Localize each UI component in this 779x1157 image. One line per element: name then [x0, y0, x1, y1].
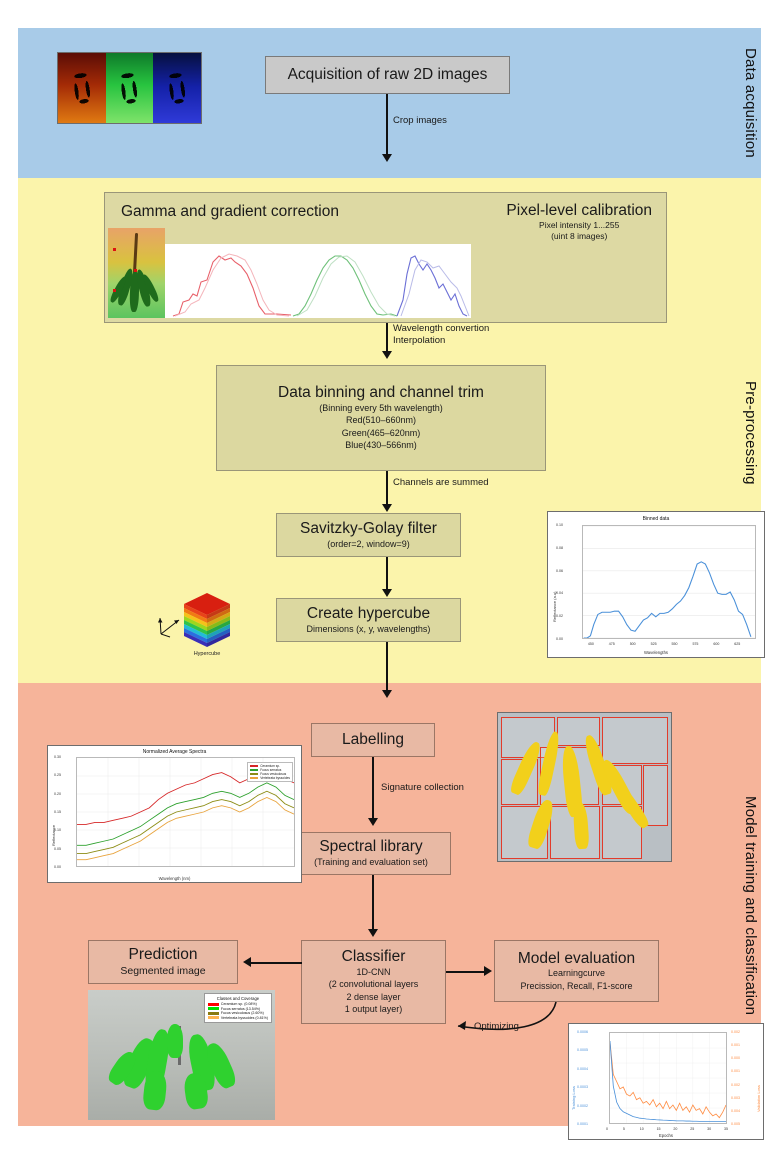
gamma-corrected-specimen-image [108, 228, 165, 318]
x-tick: 0 [606, 1127, 608, 1131]
y-tick-right: 0.005 [731, 1122, 740, 1126]
y-tick-left: 0.0005 [577, 1048, 588, 1052]
acquisition-box[interactable]: Acquisition of raw 2D images [265, 56, 510, 94]
learning-curve-lines [610, 1033, 726, 1123]
legend-swatch [250, 769, 258, 770]
spectral-library-sub: (Training and evaluation set) [314, 857, 428, 869]
band-label-pre-processing: Pre-processing [733, 328, 759, 538]
legend-label: Fucus serratus (13.54%) [221, 1007, 260, 1011]
prediction-legend-item: Fucus vesiculosus (2.60%) [208, 1011, 268, 1015]
x-tick: 500 [630, 642, 636, 646]
learning-curve-ylabel-right: Validation Loss [756, 1060, 761, 1112]
y-tick: 0.04 [556, 591, 563, 595]
savitzky-golay-params: (order=2, window=9) [327, 539, 410, 551]
band-label-data-acquisition: Data acquisition [733, 34, 759, 172]
classifier-title: Classifier [342, 948, 406, 966]
spectral-library-title: Spectral library [319, 838, 422, 856]
edge-label-channels-summed: Channels are summed [393, 477, 489, 489]
arrow-acq-to-gamma-line [386, 94, 388, 156]
y-tick-left: 0.0006 [577, 1030, 588, 1034]
legend-label: Fucus vesiculosus (2.60%) [221, 1011, 264, 1015]
workflow-diagram: Data acquisition Pre-processing Model tr… [0, 0, 779, 1157]
y-tick-right: 0.001 [731, 1069, 740, 1073]
savitzky-golay-box[interactable]: Savitzky-Golay filter (order=2, window=9… [276, 513, 461, 557]
edge-label-wavelength-convertion: Wavelength convertion [393, 323, 489, 335]
data-binning-green-range: Green(465–620nm) [342, 428, 421, 440]
classifier-sub4: 1 output layer) [345, 1004, 403, 1016]
y-tick-left: 0.0001 [577, 1122, 588, 1126]
arrow-hypercube-to-labelling-line [386, 642, 388, 692]
y-tick-right: 0.002 [731, 1030, 740, 1034]
axes-icon [157, 612, 183, 643]
arrow-classifier-to-prediction-head [243, 957, 251, 967]
spectra-chart-legend: Ceramium sp.Fucus serratusFucus vesiculo… [247, 762, 293, 782]
learning-curve-ylabel-left: Training Loss [571, 1062, 576, 1110]
legend-swatch [250, 765, 258, 766]
acquisition-box-title: Acquisition of raw 2D images [288, 66, 488, 84]
legend-swatch [208, 1007, 219, 1010]
y-tick-right: 0.002 [731, 1083, 740, 1087]
legend-label: Vertebrata byssoides [260, 776, 290, 780]
x-tick: 625 [734, 642, 740, 646]
binned-data-xlabel: Wavelengths [548, 650, 764, 655]
prediction-legend-item: Vertebrata byssoides (0.81%) [208, 1016, 268, 1020]
red-channel-image [58, 53, 106, 123]
hypercube-icon [183, 592, 231, 650]
green-channel-image [106, 53, 154, 123]
arrow-hypercube-to-labelling-head [382, 690, 392, 698]
arrow-filter-to-hypercube-line [386, 557, 388, 591]
spectra-curves [165, 244, 471, 318]
prediction-legend-item: Fucus serratus (13.54%) [208, 1007, 268, 1011]
legend-swatch [208, 1003, 219, 1006]
classifier-sub1: 1D-CNN [356, 967, 390, 979]
spectral-library-box[interactable]: Spectral library (Training and evaluatio… [291, 832, 451, 875]
labelled-mosaic-image [497, 712, 672, 862]
prediction-box[interactable]: Prediction Segmented image [88, 940, 238, 984]
y-tick-left: 0.0002 [577, 1104, 588, 1108]
x-tick: 15 [657, 1127, 661, 1131]
data-binning-title: Data binning and channel trim [278, 384, 484, 402]
binned-data-chart-title: Binned data [548, 516, 764, 522]
labelling-box[interactable]: Labelling [311, 723, 435, 757]
x-tick: 25 [690, 1127, 694, 1131]
y-tick: 0.00 [556, 637, 563, 641]
x-tick: 30 [707, 1127, 711, 1131]
x-tick: 550 [672, 642, 678, 646]
create-hypercube-title: Create hypercube [307, 605, 430, 623]
x-tick: 5 [623, 1127, 625, 1131]
edge-label-crop-images: Crop images [393, 115, 447, 127]
y-tick-right: 0.000 [731, 1056, 740, 1060]
y-tick-right: 0.003 [731, 1096, 740, 1100]
x-tick: 600 [713, 642, 719, 646]
edge-label-signature-collection: Signature collection [381, 782, 464, 794]
y-tick-left: 0.0003 [577, 1085, 588, 1089]
blue-channel-image [153, 53, 201, 123]
y-tick: 0.05 [54, 847, 61, 851]
arrow-binning-to-filter-line [386, 471, 388, 506]
band-label-model-training: Model training and classification [733, 741, 759, 1071]
legend-item: Vertebrata byssoides [250, 776, 290, 780]
y-tick: 0.06 [556, 569, 563, 573]
y-tick: 0.30 [54, 755, 61, 759]
arrow-acq-to-gamma-head [382, 154, 392, 162]
arrow-classifier-to-eval-head [484, 966, 492, 976]
create-hypercube-dims: Dimensions (x, y, wavelengths) [307, 624, 431, 636]
prediction-legend-title: Classes and Coverage [208, 996, 268, 1001]
learning-curve-chart: Training Loss Validation Loss Epochs 0.0… [568, 1023, 764, 1140]
prediction-title: Prediction [129, 946, 198, 964]
arrow-labelling-to-library-head [368, 818, 378, 826]
legend-swatch [208, 1012, 219, 1015]
pixel-calibration-sub2: (uint 8 images) [506, 231, 652, 242]
prediction-legend-item: Ceramium sp. (0.08%) [208, 1002, 268, 1006]
y-tick: 0.00 [54, 865, 61, 869]
classifier-sub3: 2 dense layer [346, 992, 400, 1004]
arrow-binning-to-filter-head [382, 504, 392, 512]
y-tick-right: 0.004 [731, 1109, 740, 1113]
data-binning-sub1: (Binning every 5th wavelength) [319, 403, 443, 415]
data-binning-box[interactable]: Data binning and channel trim (Binning e… [216, 365, 546, 471]
arrow-classifier-to-eval-line [446, 971, 486, 973]
edge-label-optimizing: Optimizing [474, 1021, 519, 1033]
create-hypercube-box[interactable]: Create hypercube Dimensions (x, y, wavel… [276, 598, 461, 642]
binned-data-line [583, 526, 755, 638]
y-tick: 0.10 [556, 523, 563, 527]
pixel-calibration-sub1: Pixel intensity 1...255 [506, 220, 652, 231]
binned-data-ylabel: Reflectance (a.u) [552, 552, 557, 622]
x-tick: 10 [640, 1127, 644, 1131]
data-binning-red-range: Red(510–660nm) [346, 415, 416, 427]
hypercube-icon-label: Hypercube [177, 651, 237, 657]
x-tick: 450 [588, 642, 594, 646]
arrow-classifier-to-prediction-line [248, 962, 302, 964]
prediction-sub: Segmented image [120, 965, 205, 978]
y-tick: 0.08 [556, 546, 563, 550]
arrow-gamma-to-binning-head [382, 351, 392, 359]
segmented-prediction-image: Classes and Coverage Ceramium sp. (0.08%… [88, 990, 275, 1120]
arrow-filter-to-hypercube-head [382, 589, 392, 597]
x-tick: 20 [673, 1127, 677, 1131]
x-tick: 575 [692, 642, 698, 646]
legend-swatch [250, 773, 258, 774]
gamma-correction-title: Gamma and gradient correction [121, 203, 339, 221]
y-tick: 0.15 [54, 810, 61, 814]
prediction-legend: Classes and Coverage Ceramium sp. (0.08%… [204, 993, 272, 1023]
classifier-sub2: (2 convolutional layers [329, 979, 419, 991]
y-tick-right: 0.001 [731, 1043, 740, 1047]
raw-rgb-triptych-image [57, 52, 202, 124]
savitzky-golay-title: Savitzky-Golay filter [300, 520, 437, 538]
legend-swatch [250, 777, 258, 778]
model-evaluation-sub1: Learningcurve [548, 968, 605, 980]
y-tick: 0.02 [556, 614, 563, 618]
learning-curve-xlabel: Epochs [569, 1133, 763, 1138]
model-evaluation-sub2: Precission, Recall, F1-score [520, 981, 632, 993]
binned-data-chart: Binned data Reflectance (a.u) Wavelength… [547, 511, 765, 658]
data-binning-blue-range: Blue(430–566nm) [345, 440, 417, 452]
y-tick: 0.25 [54, 773, 61, 777]
y-tick: 0.20 [54, 792, 61, 796]
spectra-chart-title: Normalized Average Spectra [48, 749, 301, 755]
normalized-average-spectra-chart: Normalized Average Spectra Reflectance W… [47, 745, 302, 883]
legend-label: Vertebrata byssoides (0.81%) [221, 1016, 268, 1020]
x-tick: 525 [651, 642, 657, 646]
arrow-gamma-to-binning-line [386, 323, 388, 353]
labelling-title: Labelling [342, 731, 404, 749]
pixel-calibration-title: Pixel-level calibration [506, 202, 652, 220]
arrow-library-to-classifier-head [368, 929, 378, 937]
channel-response-spectra-image [165, 244, 471, 318]
model-evaluation-title: Model evaluation [518, 950, 635, 968]
x-tick: 475 [609, 642, 615, 646]
spectra-chart-xlabel: Wavelength (nm) [48, 876, 301, 881]
x-tick: 35 [724, 1127, 728, 1131]
y-tick: 0.10 [54, 828, 61, 832]
arrow-library-to-classifier-line [372, 875, 374, 931]
y-tick-left: 0.0004 [577, 1067, 588, 1071]
legend-label: Ceramium sp. (0.08%) [221, 1002, 257, 1006]
arrow-labelling-to-library-line [372, 757, 374, 820]
model-evaluation-box[interactable]: Model evaluation Learningcurve Precissio… [494, 940, 659, 1002]
legend-swatch [208, 1016, 219, 1019]
edge-label-interpolation: Interpolation [393, 335, 445, 347]
